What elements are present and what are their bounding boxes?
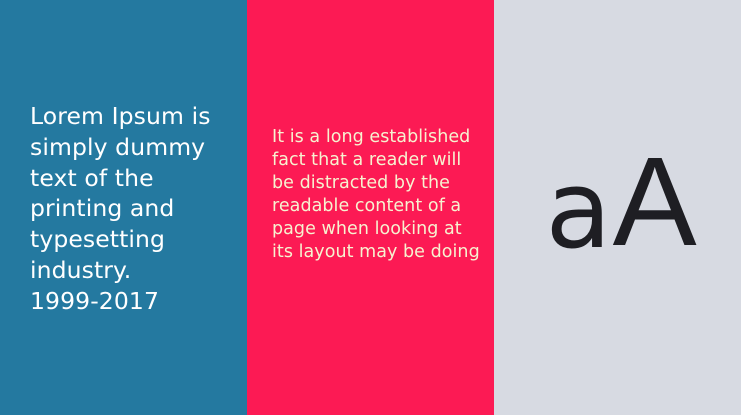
blue-panel: Lorem Ipsum is simply dummy text of the … [0,0,247,415]
grey-panel: aA [494,0,741,415]
pink-panel: It is a long established fact that a rea… [247,0,494,415]
glyph-pair-display: aA [545,138,697,266]
pink-panel-body-text: It is a long established fact that a rea… [272,126,482,264]
font-specimen-canvas: Lorem Ipsum is simply dummy text of the … [0,0,741,415]
blue-panel-body-text: Lorem Ipsum is simply dummy text of the … [30,101,235,317]
uppercase-a-glyph: A [613,131,698,272]
lowercase-a-glyph: a [545,148,612,273]
